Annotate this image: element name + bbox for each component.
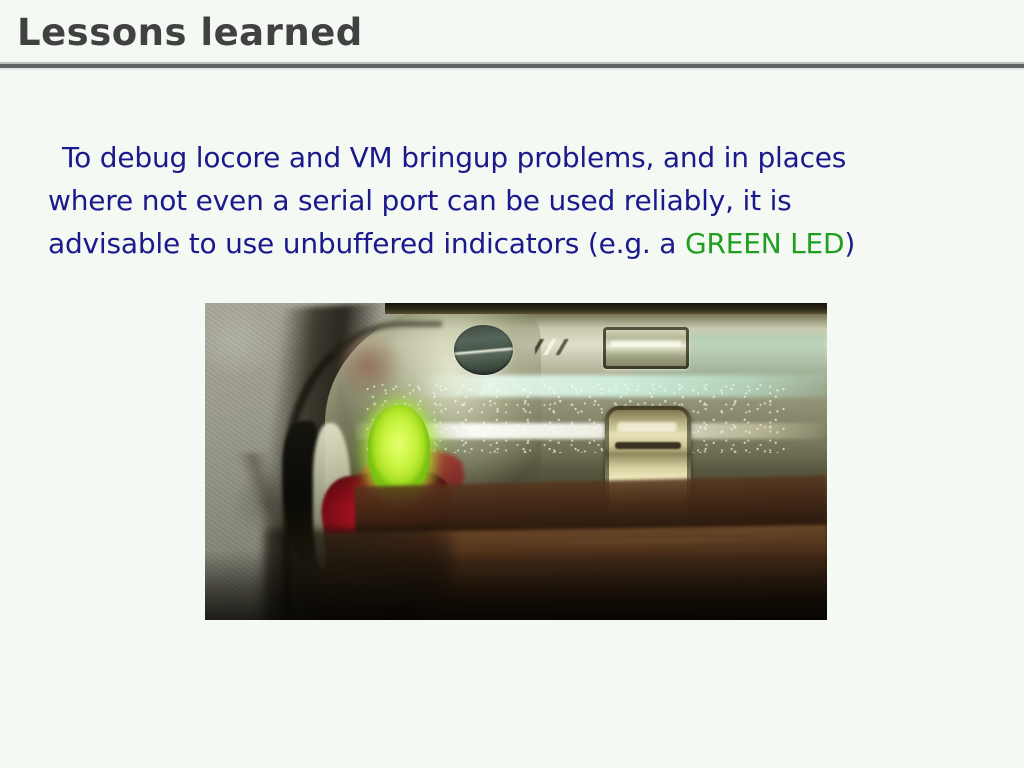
body-line-3-prefix: advisable to use unbuffered indicators (… (48, 227, 685, 260)
photo-bottom-shadow (205, 550, 827, 620)
rectangular-label (603, 327, 689, 369)
body-line-2: where not even a serial port can be used… (48, 179, 978, 222)
green-led-highlight: GREEN LED (685, 227, 844, 260)
body-line-3: advisable to use unbuffered indicators (… (48, 222, 978, 265)
page-title: Lessons learned (17, 11, 363, 54)
body-text-block: To debug locore and VM bringup problems,… (48, 136, 978, 265)
device-top-rim (385, 303, 827, 314)
bracket-mark-icon (535, 339, 577, 355)
body-line-1: To debug locore and VM bringup problems,… (48, 136, 978, 179)
body-line-3-suffix: ) (844, 227, 855, 260)
device-photo (205, 303, 827, 620)
title-divider-faint (0, 68, 1024, 70)
oval-window-icon (454, 325, 513, 375)
photo-content (205, 303, 827, 620)
